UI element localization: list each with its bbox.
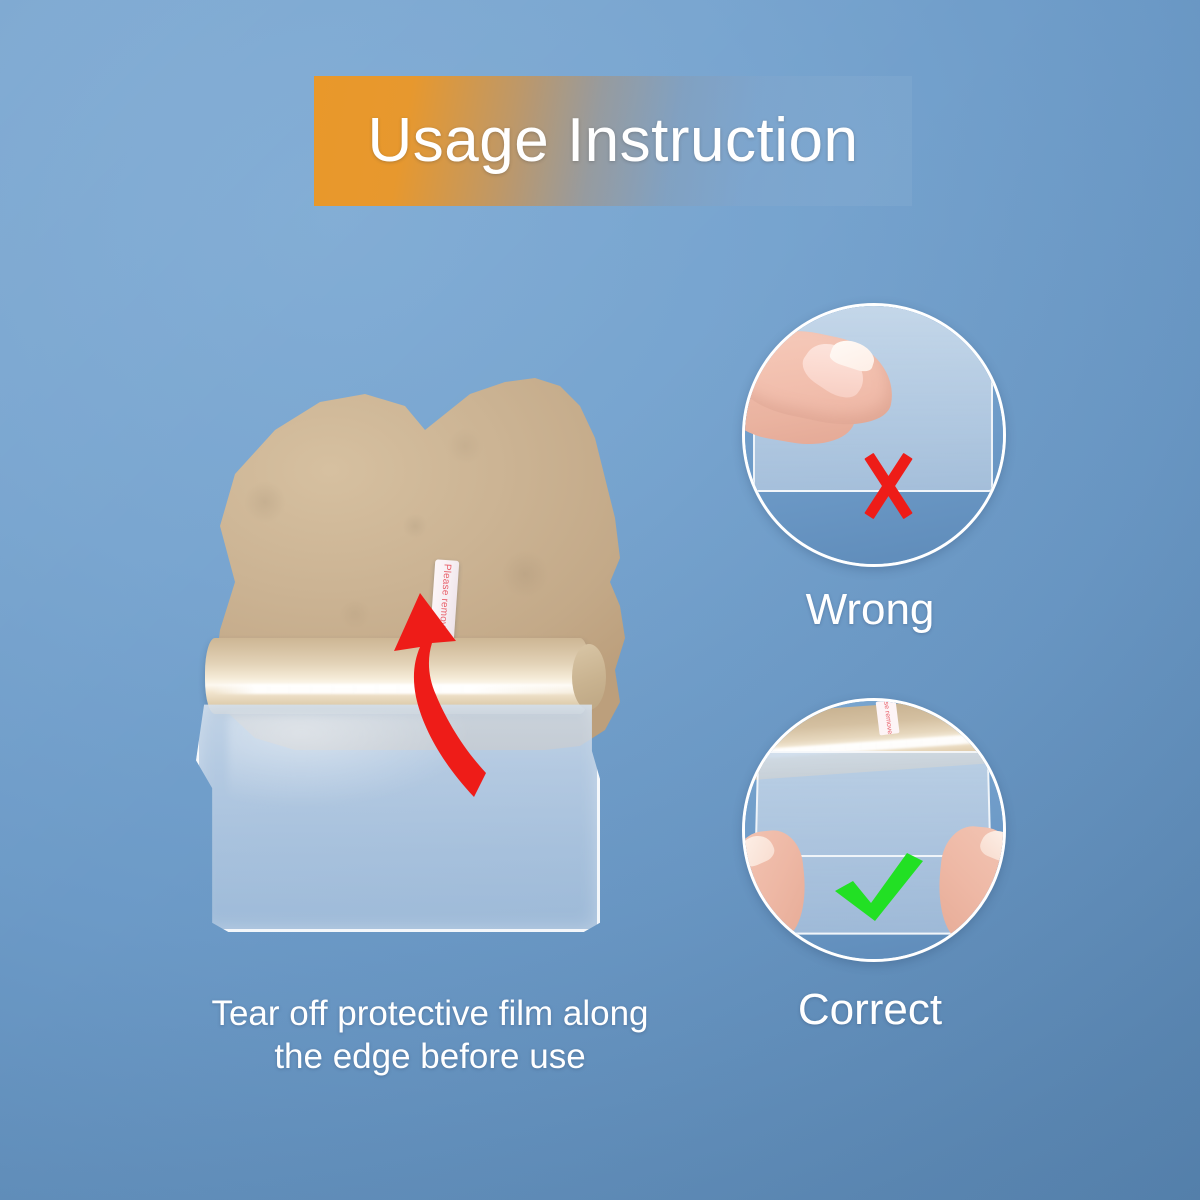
title-banner: Usage Instruction [314, 76, 912, 206]
green-check-icon [831, 851, 927, 923]
roll-end-cap [572, 644, 606, 710]
inset-correct: Please remove this [742, 698, 1006, 962]
inset-correct-right-fingernail [977, 826, 1006, 864]
red-x-icon [857, 454, 921, 518]
main-caption-line-2: the edge before use [110, 1035, 750, 1078]
inset-correct-label: Correct [720, 985, 1020, 1035]
inset-correct-pull-tab: Please remove this [876, 699, 900, 735]
inset-wrong-label: Wrong [720, 585, 1020, 635]
inset-correct-pull-tab-text: Please remove this [880, 699, 894, 735]
main-caption-line-1: Tear off protective film along [110, 992, 750, 1035]
inset-wrong [742, 303, 1006, 567]
main-caption: Tear off protective film along the edge … [110, 992, 750, 1079]
page-title: Usage Instruction [368, 110, 859, 172]
inset-correct-left-fingernail [742, 830, 778, 869]
curved-up-arrow-icon [370, 585, 530, 800]
usage-instruction-graphic: Usage Instruction Please remove this Tea… [0, 0, 1200, 1200]
